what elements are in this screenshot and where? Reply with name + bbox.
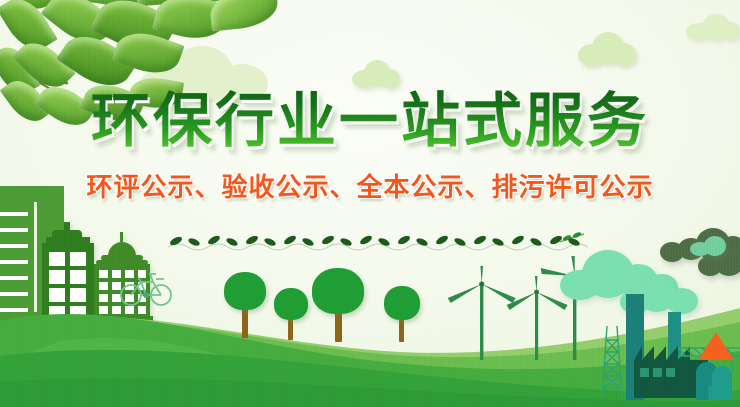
cloud-smoke-wisp: [690, 236, 726, 256]
title-block: 环保行业一站式服务 环评公示、验收公示、全本公示、排污许可公示: [0, 84, 740, 205]
banner-subtitle: 环评公示、验收公示、全本公示、排污许可公示: [0, 171, 740, 205]
orange-marker-triangle: [698, 332, 734, 360]
hill-foreground-strip: [0, 368, 740, 407]
banner-title: 环保行业一站式服务: [0, 84, 740, 158]
leaf-vine-divider: [168, 234, 588, 254]
eco-service-banner: 环保行业一站式服务 环评公示、验收公示、全本公示、排污许可公示: [0, 0, 740, 407]
tree-3: [310, 268, 366, 342]
tree-1: [222, 272, 268, 338]
tree-2: [272, 288, 310, 340]
tree-4: [382, 286, 422, 342]
